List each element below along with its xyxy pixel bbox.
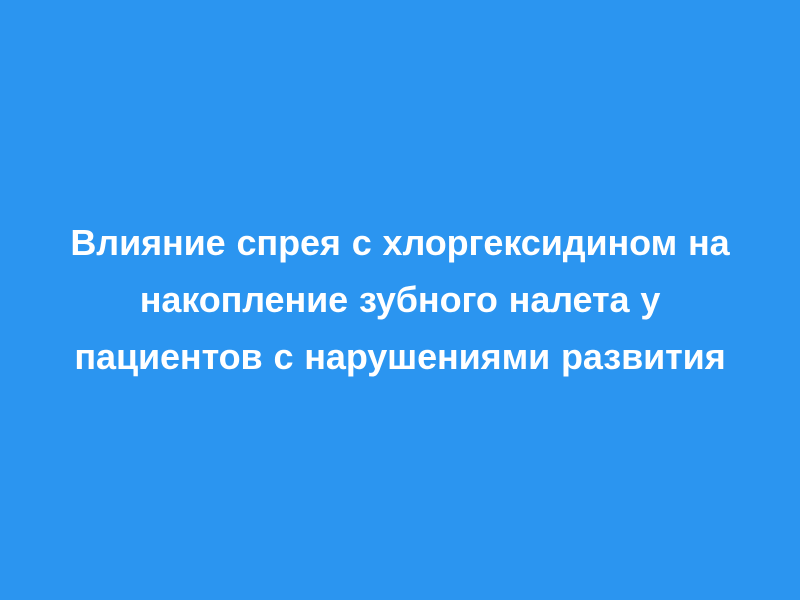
title-card: Влияние спрея с хлоргексидином на накопл… bbox=[0, 0, 800, 600]
title-block: Влияние спрея с хлоргексидином на накопл… bbox=[50, 214, 750, 385]
page-title: Влияние спрея с хлоргексидином на накопл… bbox=[60, 214, 740, 385]
